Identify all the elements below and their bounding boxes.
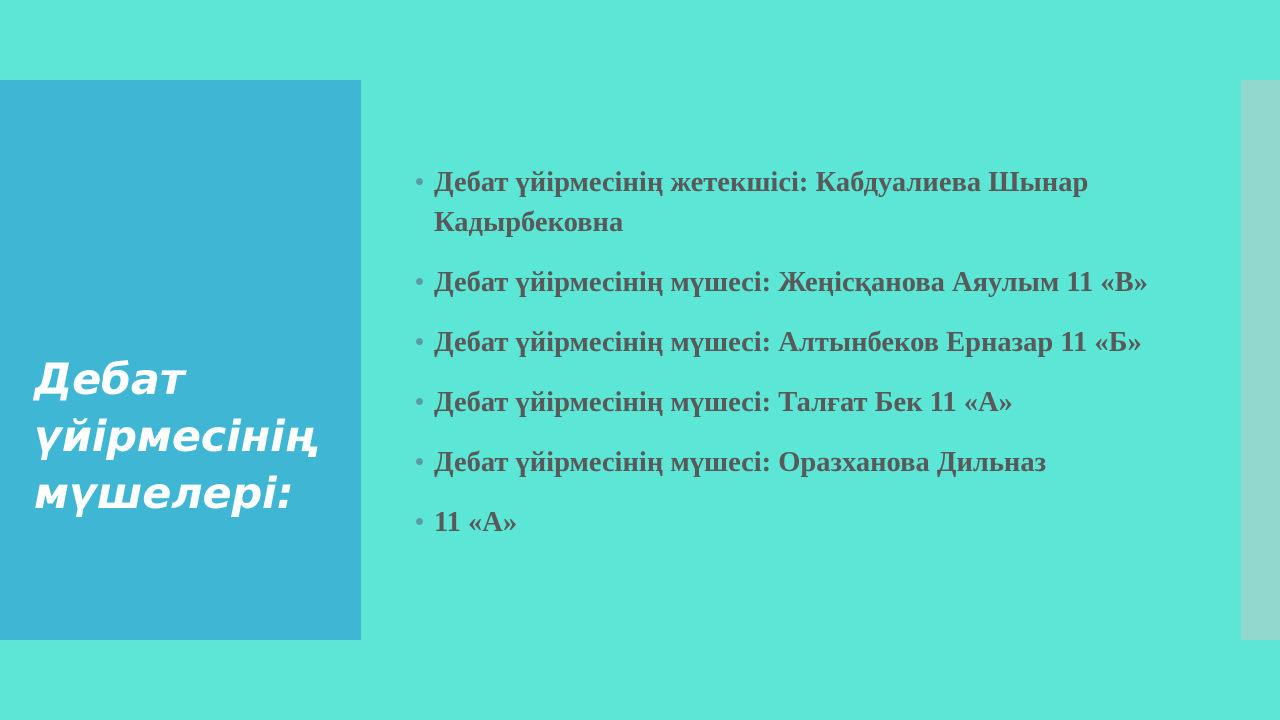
list-item: Дебат үйірмесінің мүшесі: Оразханова Дил… — [412, 443, 1157, 483]
list-item: Дебат үйірмесінің мүшесі: Жеңісқанова Ая… — [412, 263, 1157, 303]
slide-canvas: Дебат үйірмесінің мүшелері: Дебат үйірме… — [0, 0, 1280, 720]
bullet-dot-icon — [416, 398, 423, 405]
list-item: Дебат үйірмесінің мүшесі: Талғат Бек 11 … — [412, 383, 1157, 423]
bullet-dot-icon — [416, 518, 423, 525]
list-item: 11 «А» — [412, 503, 1157, 543]
slide-title: Дебат үйірмесінің мүшелері: — [34, 352, 344, 523]
title-panel: Дебат үйірмесінің мүшелері: — [0, 80, 361, 640]
bullet-dot-icon — [416, 278, 423, 285]
list-item-label: Дебат үйірмесінің мүшесі: Жеңісқанова Ая… — [434, 263, 1157, 303]
list-item-label: Дебат үйірмесінің мүшесі: Оразханова Дил… — [434, 443, 1157, 483]
bullet-dot-icon — [416, 338, 423, 345]
list-item-label: Дебат үйірмесінің мүшесі: Алтынбеков Ерн… — [434, 323, 1157, 363]
list-item-label: Дебат үйірмесінің жетекшісі: Кабдуалиева… — [434, 163, 1157, 243]
list-item-label: 11 «А» — [434, 503, 1157, 543]
bullet-dot-icon — [416, 178, 423, 185]
list-item: Дебат үйірмесінің мүшесі: Алтынбеков Ерн… — [412, 323, 1157, 363]
list-item: Дебат үйірмесінің жетекшісі: Кабдуалиева… — [412, 163, 1157, 243]
bullet-dot-icon — [416, 458, 423, 465]
list-item-label: Дебат үйірмесінің мүшесі: Талғат Бек 11 … — [434, 383, 1157, 423]
bullet-list: Дебат үйірмесінің жетекшісі: Кабдуалиева… — [412, 163, 1157, 543]
right-accent-strip — [1241, 80, 1280, 640]
